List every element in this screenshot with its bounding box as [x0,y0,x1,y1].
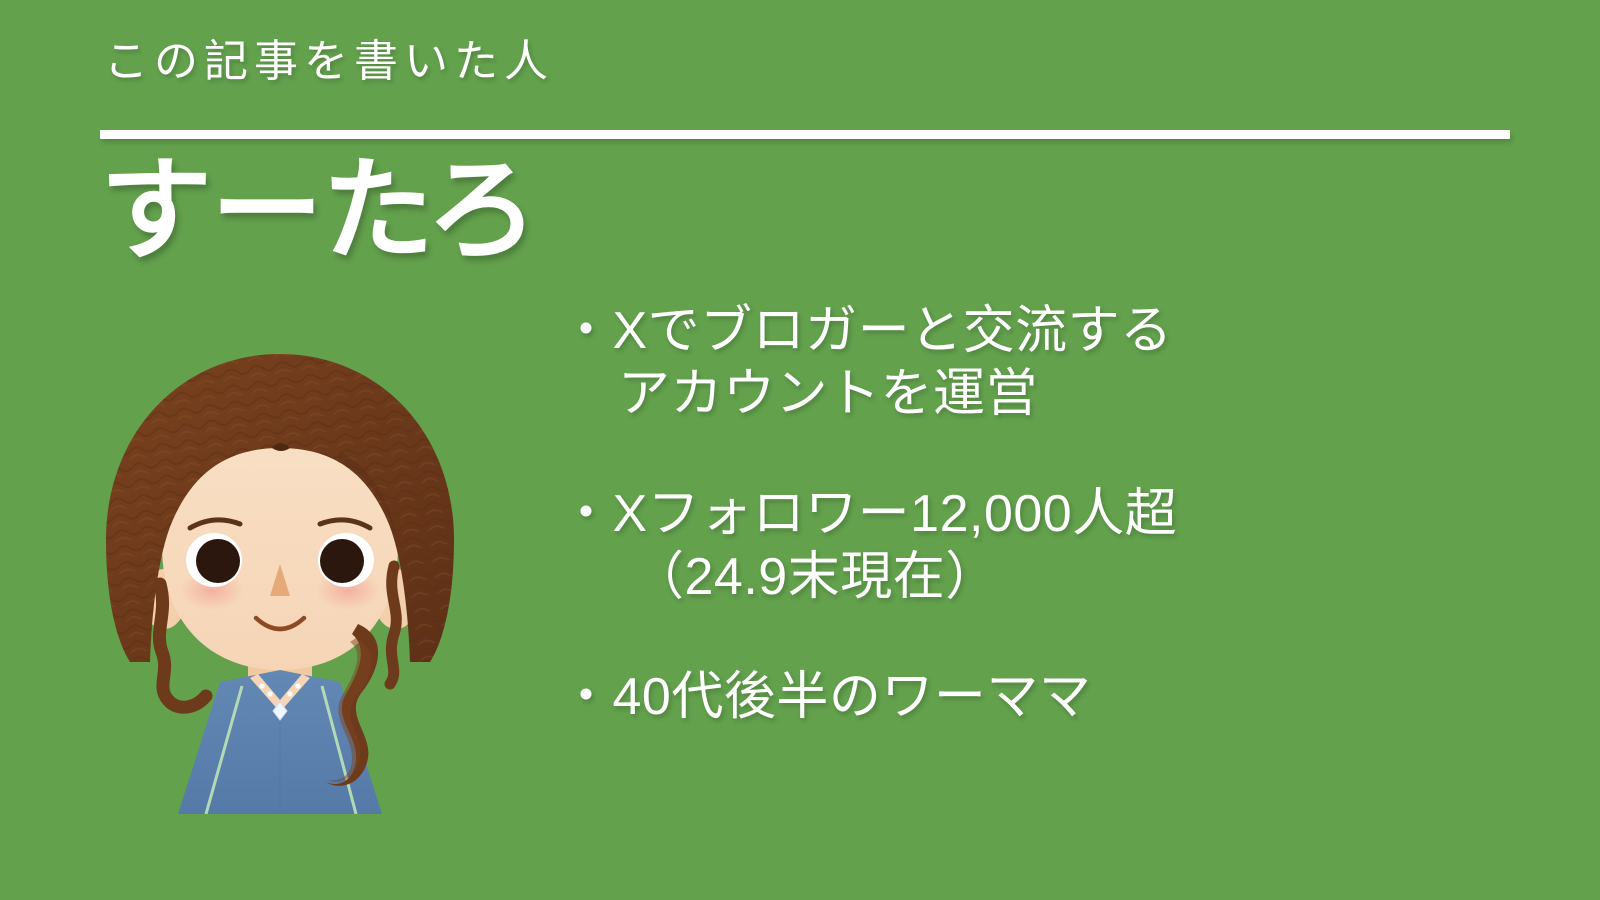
list-item: ・40代後半のワーママ [560,666,1570,729]
profile-card: この記事を書いた人 すーたろ [0,0,1600,900]
page-title: この記事を書いた人 [104,40,554,84]
eye-left [186,533,242,587]
header-divider [100,130,1510,139]
hair-curl-right-thin [390,566,396,684]
eye-right [318,533,374,587]
bullet-line: ・Xでブロガーと交流する [560,300,1570,363]
bullet-list: ・Xでブロガーと交流する アカウントを運営 ・Xフォロワー12,000人超 （2… [560,300,1570,729]
bullet-line: ・Xフォロワー12,000人超 [560,483,1570,546]
bullet-line: ・40代後半のワーママ [560,666,1570,729]
list-item: ・Xでブロガーと交流する アカウントを運営 [560,300,1570,427]
bullet-line: （24.9末現在） [560,546,1570,609]
list-item: ・Xフォロワー12,000人超 （24.9末現在） [560,483,1570,610]
avatar [90,352,470,814]
author-name: すーたろ [100,152,537,270]
bullet-line: アカウントを運営 [560,363,1570,426]
